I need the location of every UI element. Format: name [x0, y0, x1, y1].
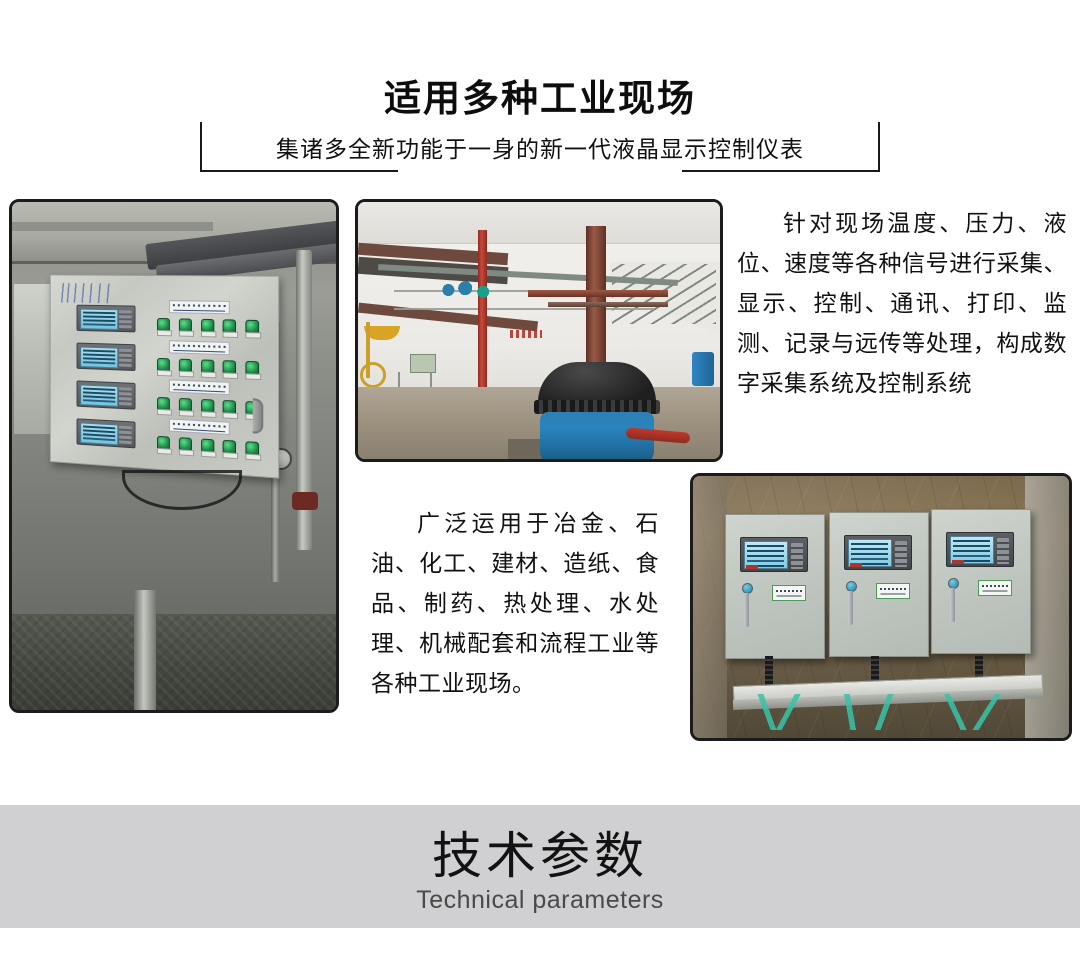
- indicator-lamp-row: [157, 318, 259, 337]
- valve: [292, 492, 318, 510]
- brand-logo: [850, 563, 862, 567]
- blue-barrel: [692, 352, 714, 386]
- green-lamp-icon: [201, 359, 214, 375]
- cabinet-key: [950, 588, 955, 622]
- emergency-shower-ring: [360, 362, 386, 388]
- indicator-lamp-row: [157, 397, 259, 418]
- green-lamp-icon: [201, 438, 214, 454]
- indicator-lamp-row: [157, 436, 259, 459]
- paperless-recorder: [844, 535, 912, 570]
- photo-wall-cabinets: [690, 473, 1072, 741]
- meter-buttons: [119, 310, 132, 329]
- green-lamp-icon: [179, 398, 192, 414]
- meter-buttons: [119, 426, 132, 446]
- green-lamp-icon: [201, 399, 214, 415]
- cabinet-label-tag: [876, 583, 910, 599]
- lcd-meter: [77, 418, 136, 448]
- control-cabinet: [725, 514, 825, 659]
- cabinet-label-tag: [772, 585, 806, 601]
- text-signal-processing: 针对现场温度、压力、液位、速度等各种信号进行采集、显示、控制、通讯、打印、监测、…: [737, 203, 1067, 403]
- lcd-screen: [80, 422, 118, 445]
- ceiling: [358, 202, 720, 244]
- green-lamp-icon: [157, 318, 170, 333]
- cabinet-label-tag: [978, 580, 1012, 596]
- horizontal-pipe: [548, 302, 668, 307]
- green-lamp-icon: [245, 320, 259, 336]
- page-subtitle: 集诸多全新功能于一身的新一代液晶显示控制仪表: [0, 132, 1080, 166]
- green-lamp-icon: [179, 318, 192, 333]
- control-cabinet: [931, 509, 1031, 654]
- page-title: 适用多种工业现场: [0, 76, 1080, 122]
- green-lamp-icon: [179, 437, 192, 453]
- wall-control-box: [410, 354, 436, 373]
- recorder-keypad: [895, 541, 907, 567]
- green-lamp-icon: [157, 358, 170, 373]
- green-lamp-icon: [223, 360, 236, 376]
- text-industry-application: 广泛运用于冶金、石油、化工、建材、造纸、食品、制药、热处理、水处理、机械配套和流…: [371, 503, 659, 703]
- cabinet-key: [848, 591, 853, 625]
- control-cabinet: [829, 512, 929, 657]
- paperless-recorder: [946, 532, 1014, 567]
- photo-control-panel: [9, 199, 339, 713]
- stainless-control-cabinet: [50, 274, 280, 478]
- photo-wall-cabinets-image: [693, 476, 1069, 738]
- recorder-keypad: [997, 538, 1009, 564]
- lcd-screen: [80, 309, 118, 330]
- green-lamp-icon: [245, 361, 259, 377]
- banner-title: 技术参数: [0, 827, 1080, 885]
- paperless-recorder: [740, 537, 808, 572]
- meter-buttons: [119, 349, 132, 368]
- lcd-meter: [77, 343, 136, 372]
- meter-buttons: [119, 387, 132, 406]
- green-lamp-icon: [223, 319, 236, 335]
- indicator-lamp-row: [157, 358, 259, 378]
- lcd-meter: [77, 305, 136, 333]
- brand-logo: [952, 560, 964, 564]
- photo-factory-interior-image: [358, 202, 720, 459]
- cabinet-key: [744, 593, 749, 627]
- left-pillar: [693, 476, 727, 738]
- green-lamp-icon: [157, 436, 170, 452]
- green-lamp-icon: [157, 397, 170, 413]
- lcd-screen: [80, 347, 118, 369]
- green-lamp-icon: [245, 441, 259, 457]
- brand-logo: [746, 565, 758, 569]
- panel-label-strip: [169, 379, 230, 395]
- lcd-meter: [77, 380, 136, 409]
- wall-warning-sign: [510, 330, 542, 338]
- green-lamp-icon: [179, 359, 192, 375]
- wall-graffiti: [753, 694, 1033, 730]
- ceiling-beam: [12, 222, 213, 231]
- banner-subtitle: Technical parameters: [0, 885, 1080, 915]
- valve-cluster: [440, 278, 500, 308]
- handwriting-mark: [60, 283, 130, 303]
- horizontal-pipe: [528, 290, 668, 297]
- lcd-screen: [80, 384, 118, 406]
- cabinet-handle: [253, 398, 264, 434]
- floor: [12, 614, 336, 710]
- floor-texture: [12, 614, 336, 710]
- green-lamp-icon: [201, 319, 214, 335]
- page-subtitle-text: 集诸多全新功能于一身的新一代液晶显示控制仪表: [262, 132, 818, 166]
- green-lamp-icon: [223, 440, 236, 456]
- support-post: [134, 590, 156, 710]
- product-detail-page: 适用多种工业现场 集诸多全新功能于一身的新一代液晶显示控制仪表: [0, 0, 1080, 973]
- panel-label-strip: [169, 340, 230, 355]
- green-lamp-icon: [223, 400, 236, 416]
- header-section: 适用多种工业现场 集诸多全新功能于一身的新一代液晶显示控制仪表: [0, 0, 1080, 190]
- page-title-text: 适用多种工业现场: [358, 76, 722, 122]
- technical-parameters-banner: 技术参数 Technical parameters: [0, 805, 1080, 928]
- photo-factory-interior: [355, 199, 723, 462]
- panel-label-strip: [169, 300, 230, 314]
- photo-control-panel-image: [12, 202, 336, 710]
- recorder-keypad: [791, 543, 803, 569]
- panel-label-strip: [169, 418, 230, 435]
